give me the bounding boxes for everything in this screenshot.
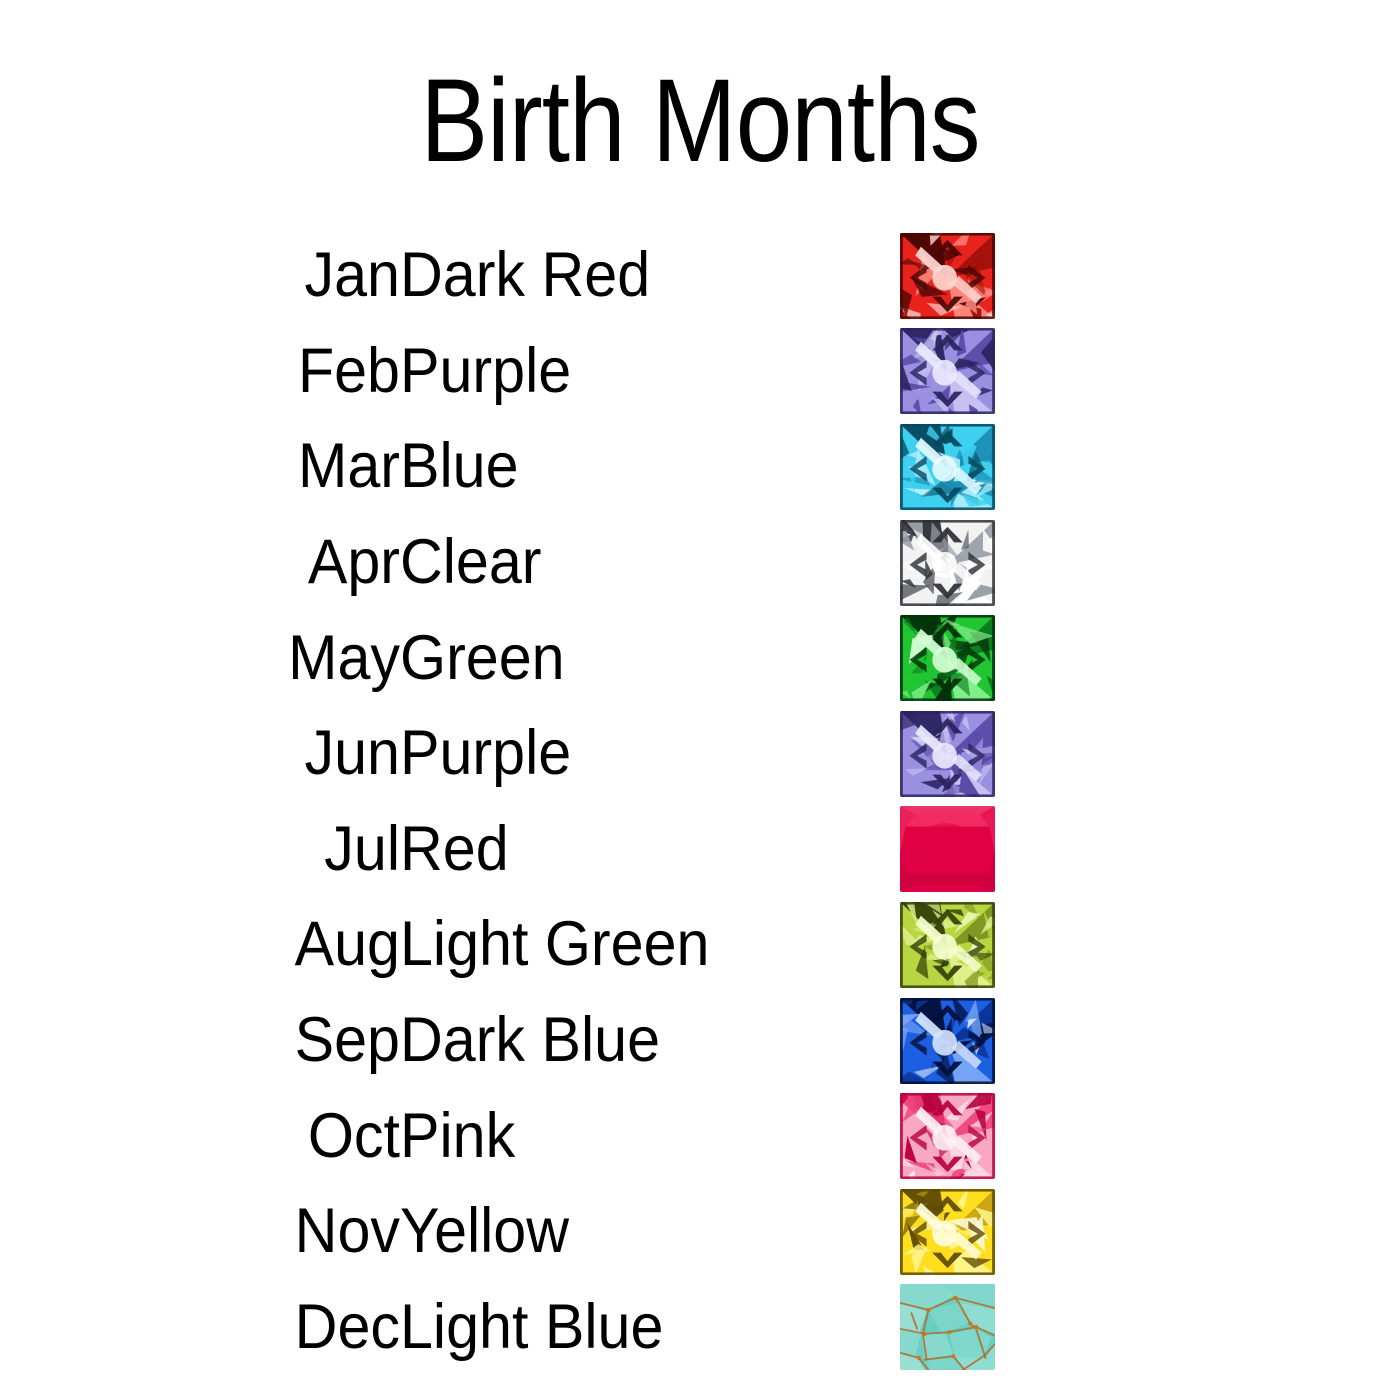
table-row: Dec Light Blue bbox=[0, 1280, 1400, 1376]
peridot-gem-icon bbox=[900, 902, 995, 988]
tourmaline-gem-icon bbox=[900, 1093, 995, 1179]
birth-months-page: Birth Months Jan Dark Red Feb Purple Mar… bbox=[0, 0, 1400, 1400]
turquoise-gem-icon bbox=[900, 1284, 995, 1370]
ruby-gem-icon bbox=[900, 806, 995, 892]
color-label: Light Blue bbox=[400, 1280, 870, 1376]
color-label: Pink bbox=[400, 1088, 870, 1184]
citrine-gem-icon bbox=[900, 1189, 995, 1275]
birth-months-table: Jan Dark Red Feb Purple Mar Blue bbox=[0, 228, 1400, 1375]
color-label: Light Green bbox=[400, 897, 870, 993]
gem-cell bbox=[900, 897, 1400, 993]
alexandrite-gem-icon bbox=[900, 711, 995, 797]
sapphire-gem-icon bbox=[900, 998, 995, 1084]
month-label: Jul bbox=[24, 802, 400, 898]
table-row: Jan Dark Red bbox=[0, 228, 1400, 324]
table-row: Feb Purple bbox=[0, 324, 1400, 420]
gem-cell bbox=[900, 993, 1400, 1089]
gem-cell bbox=[900, 1280, 1400, 1376]
month-label: Jun bbox=[24, 706, 400, 802]
month-label: Mar bbox=[24, 419, 400, 515]
color-label: Dark Red bbox=[400, 228, 870, 324]
gem-cell bbox=[900, 228, 1400, 324]
gem-cell bbox=[900, 419, 1400, 515]
table-row: May Green bbox=[0, 610, 1400, 706]
gem-cell bbox=[900, 802, 1400, 898]
gem-cell bbox=[900, 515, 1400, 611]
month-label: Oct bbox=[24, 1088, 400, 1184]
color-label: Purple bbox=[400, 324, 870, 420]
month-label: Feb bbox=[24, 324, 400, 420]
color-label: Dark Blue bbox=[400, 993, 870, 1089]
month-label: Dec bbox=[24, 1280, 400, 1376]
table-body: Jan Dark Red Feb Purple Mar Blue bbox=[0, 228, 1400, 1375]
gem-cell bbox=[900, 324, 1400, 420]
table-row: Oct Pink bbox=[0, 1088, 1400, 1184]
gem-cell bbox=[900, 1184, 1400, 1280]
month-label: Aug bbox=[24, 897, 400, 993]
table-row: Mar Blue bbox=[0, 419, 1400, 515]
aquamarine-gem-icon bbox=[900, 424, 995, 510]
gem-cell bbox=[900, 1088, 1400, 1184]
diamond-gem-icon bbox=[900, 520, 995, 606]
color-label: Blue bbox=[400, 419, 870, 515]
color-label: Green bbox=[400, 610, 870, 706]
table-row: Jul Red bbox=[0, 802, 1400, 898]
gem-cell bbox=[900, 706, 1400, 802]
gem-cell bbox=[900, 610, 1400, 706]
month-label: Nov bbox=[24, 1184, 400, 1280]
table-row: Apr Clear bbox=[0, 515, 1400, 611]
table-row: Sep Dark Blue bbox=[0, 993, 1400, 1089]
color-label: Yellow bbox=[400, 1184, 870, 1280]
table-row: Nov Yellow bbox=[0, 1184, 1400, 1280]
month-label: May bbox=[24, 610, 400, 706]
amethyst-gem-icon bbox=[900, 328, 995, 414]
month-label: Jan bbox=[24, 228, 400, 324]
color-label: Red bbox=[400, 802, 870, 898]
emerald-gem-icon bbox=[900, 615, 995, 701]
month-label: Apr bbox=[24, 515, 400, 611]
table-row: Aug Light Green bbox=[0, 897, 1400, 993]
month-label: Sep bbox=[24, 993, 400, 1089]
garnet-gem-icon bbox=[900, 233, 995, 319]
page-title: Birth Months bbox=[98, 62, 1302, 180]
table-row: Jun Purple bbox=[0, 706, 1400, 802]
color-label: Clear bbox=[400, 515, 870, 611]
color-label: Purple bbox=[400, 706, 870, 802]
